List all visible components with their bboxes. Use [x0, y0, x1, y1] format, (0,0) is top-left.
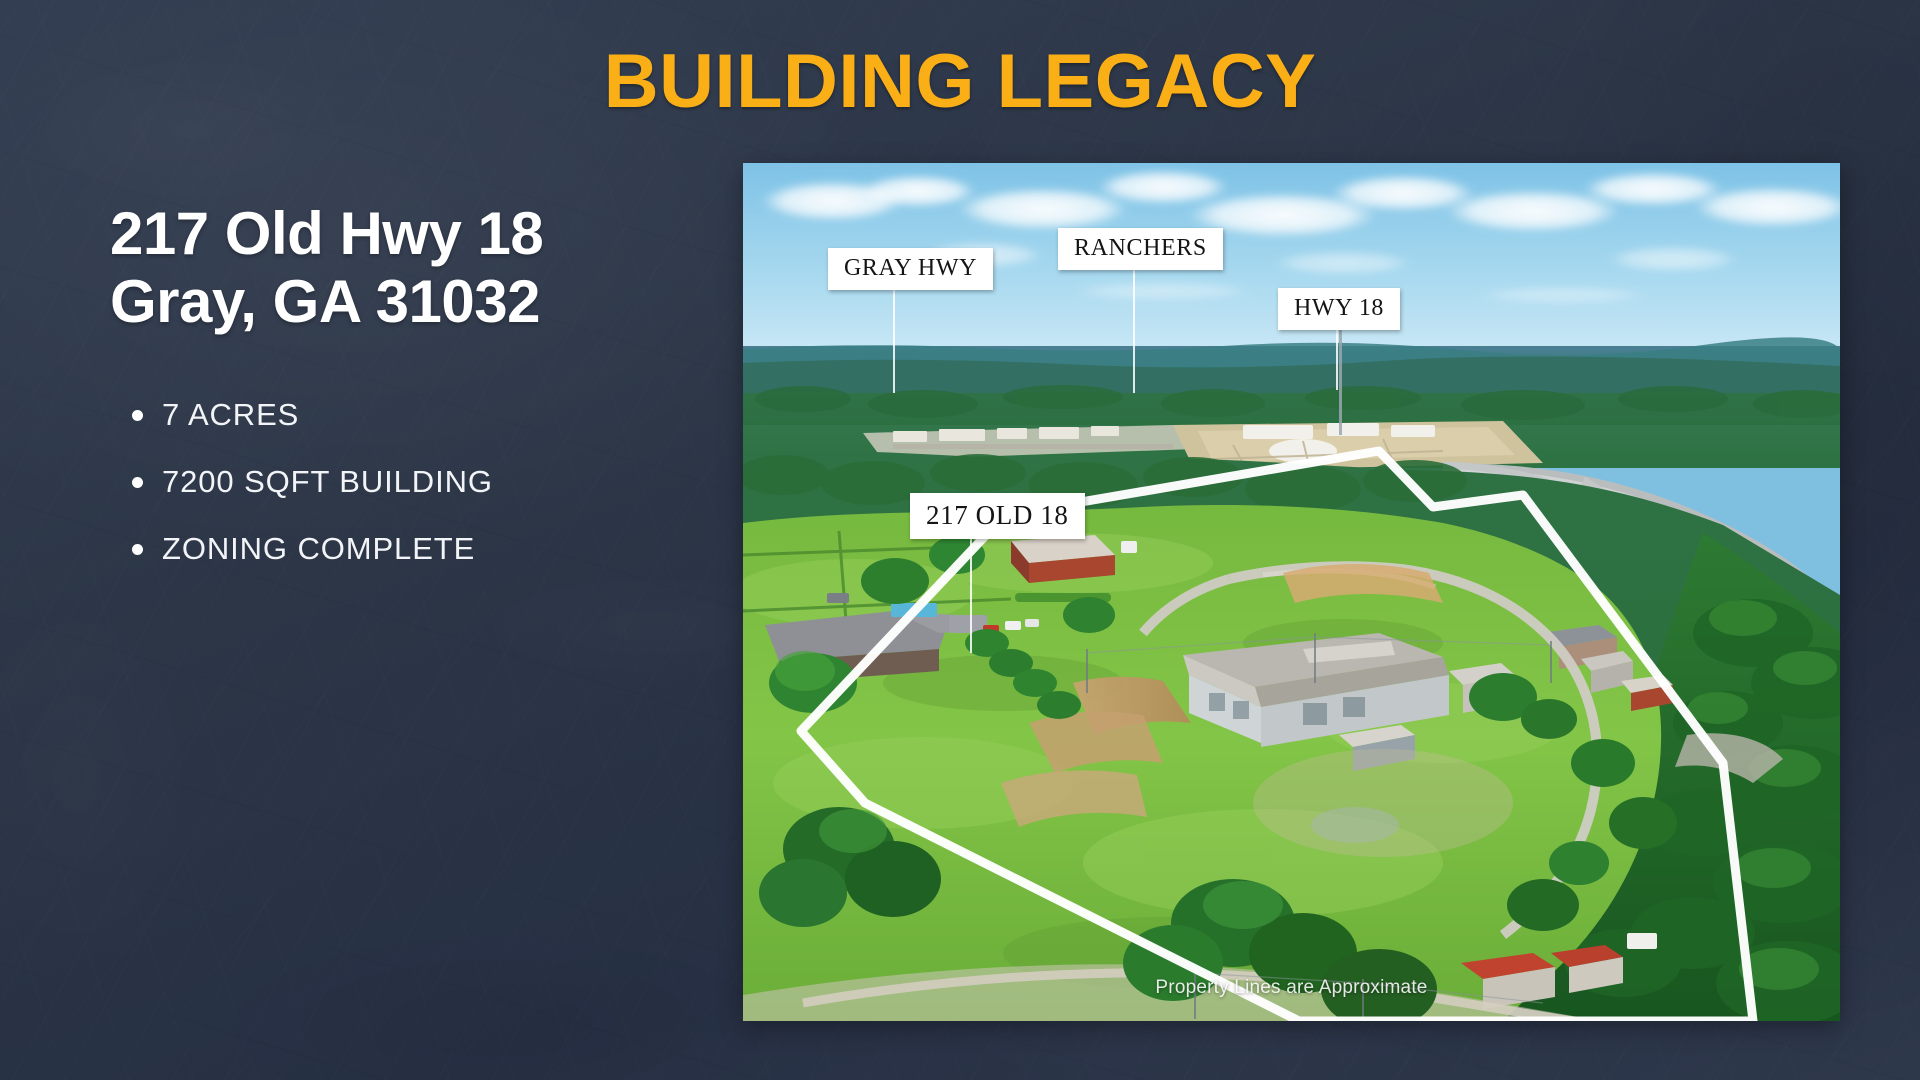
slide-title: BUILDING LEGACY — [0, 38, 1920, 125]
bullet-icon — [132, 544, 143, 555]
callout-217-old-18: 217 OLD 18 — [910, 493, 1085, 539]
aerial-property-photo: GRAY HWY RANCHERS HWY 18 217 OLD 18 Prop… — [743, 163, 1840, 1021]
feature-label: 7 ACRES — [162, 397, 299, 432]
callout-ranchers: RANCHERS — [1058, 228, 1223, 270]
feature-label: 7200 SQFT BUILDING — [162, 464, 493, 499]
callout-leader-line — [1133, 268, 1135, 393]
callout-leader-line — [1336, 328, 1338, 390]
list-item: 7 ACRES — [110, 399, 710, 430]
bullet-icon — [132, 410, 143, 421]
callout-gray-hwy: GRAY HWY — [828, 248, 993, 290]
left-content-column: 217 Old Hwy 18 Gray, GA 31032 7 ACRES 72… — [110, 200, 710, 600]
feature-list: 7 ACRES 7200 SQFT BUILDING ZONING COMPLE… — [110, 399, 710, 564]
presentation-slide: IT TAKES WHATEVER BUILDING LEGACY 217 Ol… — [0, 0, 1920, 1080]
address-line-1: 217 Old Hwy 18 — [110, 200, 710, 268]
list-item: ZONING COMPLETE — [110, 533, 710, 564]
bullet-icon — [132, 477, 143, 488]
list-item: 7200 SQFT BUILDING — [110, 466, 710, 497]
feature-label: ZONING COMPLETE — [162, 531, 475, 566]
callout-leader-line — [970, 533, 972, 653]
address-line-2: Gray, GA 31032 — [110, 268, 710, 336]
callout-leader-line — [893, 288, 895, 393]
property-lines-disclaimer: Property Lines are Approximate — [743, 977, 1840, 999]
property-address: 217 Old Hwy 18 Gray, GA 31032 — [110, 200, 710, 337]
callout-hwy-18: HWY 18 — [1278, 288, 1400, 330]
